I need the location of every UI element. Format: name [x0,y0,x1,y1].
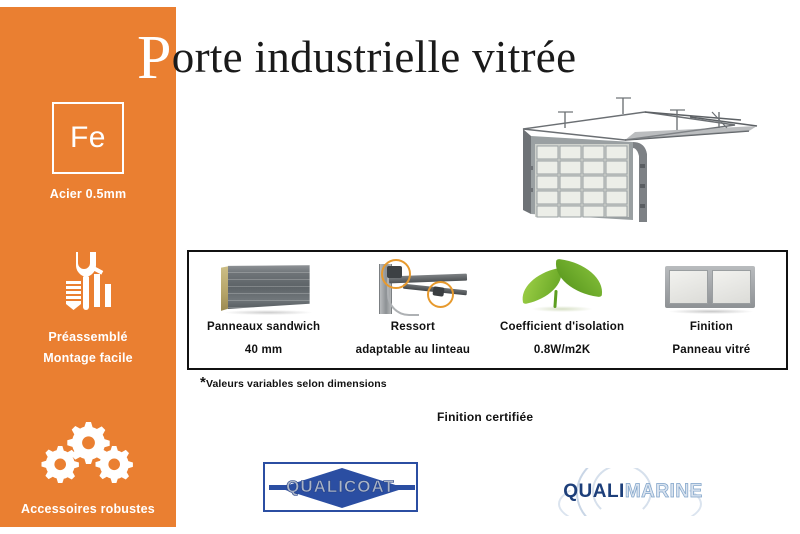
footnote: *Valeurs variables selon dimensions [200,378,387,390]
qualicoat-logo: QUALICOAT [263,462,418,512]
feature-value: 0.8W/m2K [534,344,591,356]
sidebar-item-acier: Fe Acier 0.5mm [0,102,176,204]
highlight-circle-bottom-icon [427,281,454,308]
sidebar-label-preassemble: Préassemblé [0,328,176,347]
feature-value: Panneau vitré [672,344,750,356]
feature-coefficient-isolation: Coefficient d'isolation 0.8W/m2K [488,252,637,368]
feature-title: Ressort [391,321,435,333]
fe-element-square-icon: Fe [52,102,124,174]
feature-title: Finition [690,321,733,333]
certified-label: Finition certifiée [437,410,533,424]
sidebar-label-accessoires: Accessoires robustes [0,500,176,519]
feature-title: Coefficient d'isolation [500,321,624,333]
feature-finition: Finition Panneau vitré [637,252,786,368]
feature-ressort: Ressort adaptable au linteau [338,252,487,368]
spring-mechanism-icon [359,258,467,314]
page-title-initial: P [137,24,172,92]
page-title: Porte industrielle vitrée [137,24,576,85]
qualimarine-logo-text: QUALIMARINE [563,481,703,503]
product-sheet-page: Fe Acier 0.5mm [0,0,800,534]
page-title-rest: orte industrielle vitrée [172,32,577,82]
feature-value: adaptable au linteau [356,344,471,356]
qualimarine-text-marine: MARINE [625,481,703,502]
sidebar-label-acier: Acier 0.5mm [0,185,176,204]
green-leaf-icon [514,258,610,314]
qualicoat-logo-text: QUALICOAT [286,477,395,497]
sidebar-item-accessoires: Accessoires robustes [0,417,176,519]
feature-title: Panneaux sandwich [207,321,320,333]
sectional-garage-door-image [505,84,795,229]
qualimarine-logo: QUALIMARINE [548,468,718,516]
gears-icon [0,417,176,489]
highlight-circle-top-icon [381,259,411,289]
sidebar-label-montage-facile: Montage facile [0,349,176,368]
sidebar-item-preassemble: Préassemblé Montage facile [0,245,176,368]
features-panel: Panneaux sandwich 40 mm Ressort adaptabl… [187,250,788,370]
footnote-text: Valeurs variables selon dimensions [206,378,387,390]
wrench-bolt-icon [0,245,176,317]
qualimarine-text-quali: QUALI [563,481,625,502]
feature-value: 40 mm [245,344,282,356]
feature-panneaux-sandwich: Panneaux sandwich 40 mm [189,252,338,368]
sandwich-panel-icon [218,258,310,314]
fe-symbol-text: Fe [70,121,106,155]
glazed-panel-icon [663,258,759,314]
